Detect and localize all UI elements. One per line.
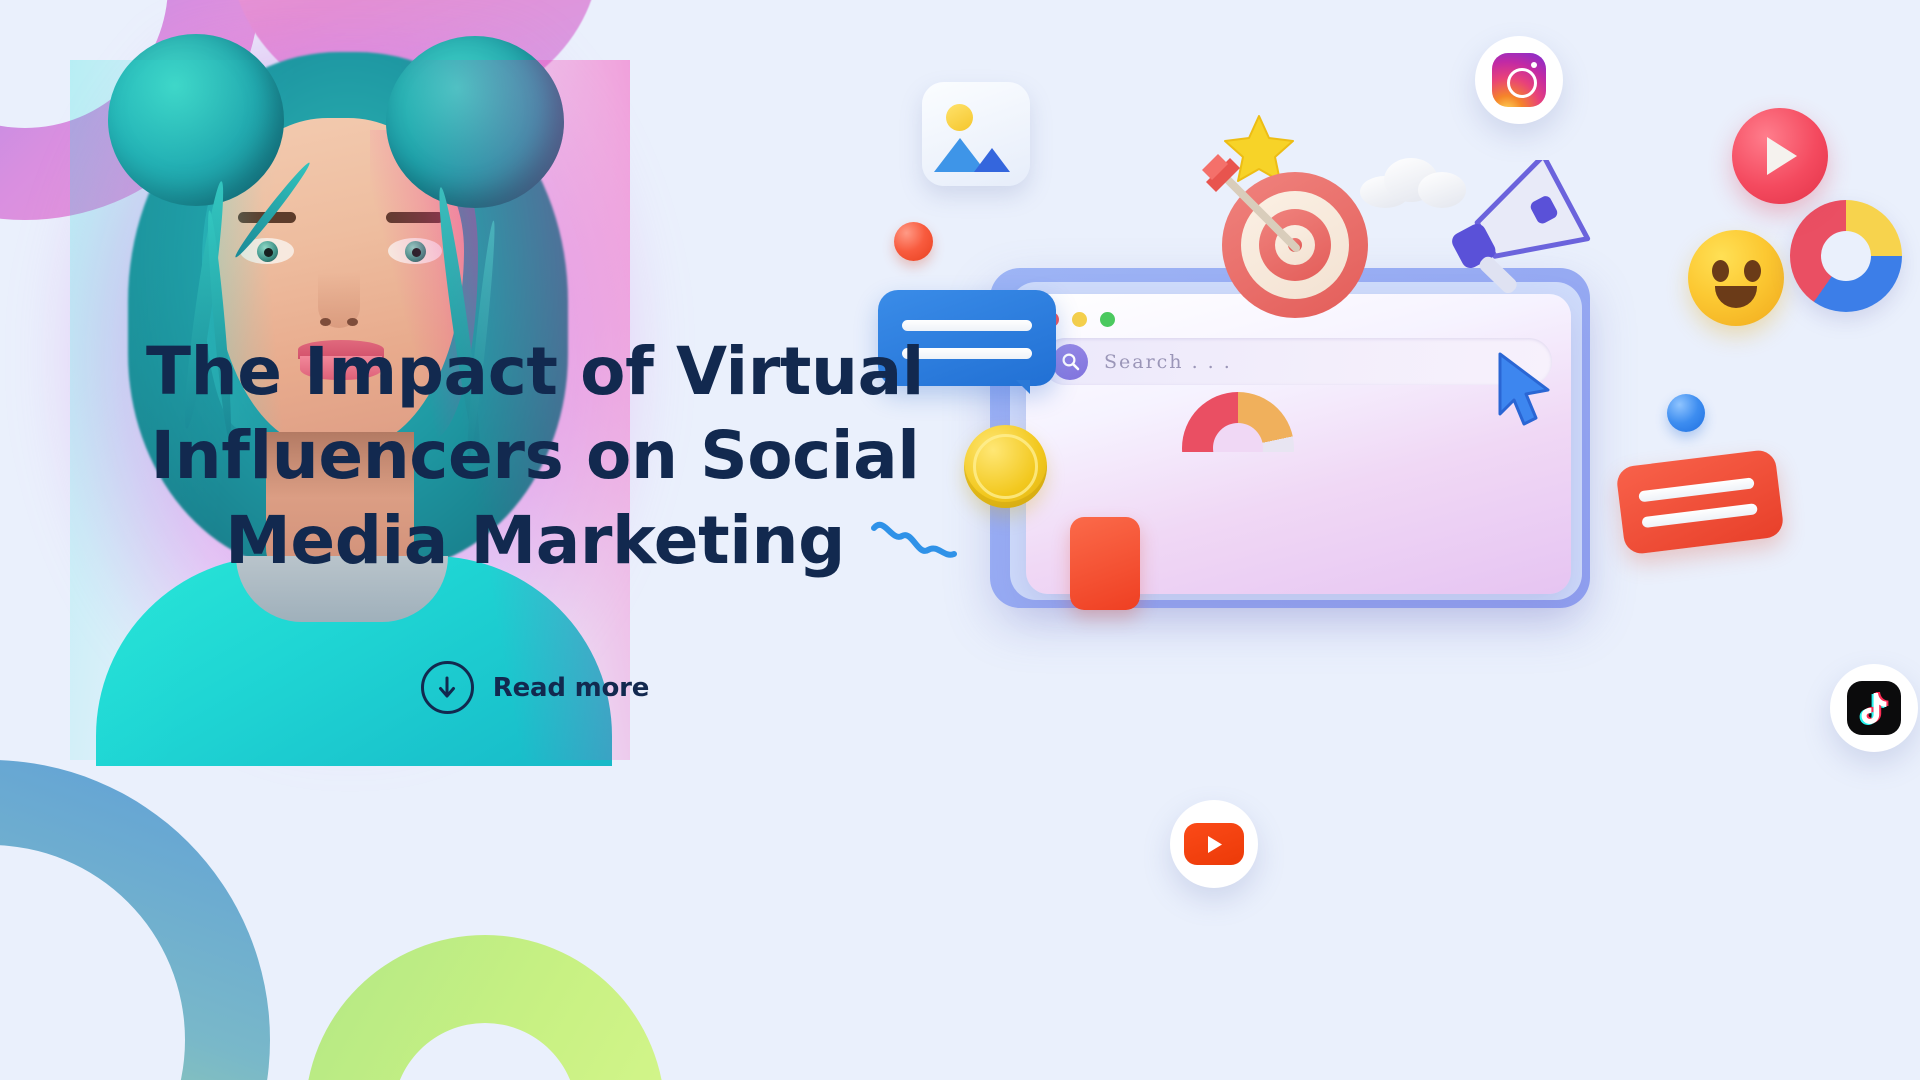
search-input[interactable]: Search . . . [1042,338,1552,385]
traffic-light-yellow [1072,312,1087,327]
megaphone-icon [1430,160,1610,310]
sphere-red-icon [894,222,933,261]
hero-stage: The Impact of Virtual Influencers on Soc… [0,0,1920,1080]
rect-red-icon [1070,517,1140,610]
decorative-arc-bottom-left [0,760,270,1080]
traffic-light-green [1100,312,1115,327]
donut-chart-behind-head-icon [1182,392,1294,452]
chat-bubble-red-icon [1615,449,1785,556]
donut-chart-icon [1790,200,1902,312]
smiley-emoji-icon [1688,230,1784,326]
magnifier-icon [1052,344,1088,380]
read-more-label: Read more [493,673,649,703]
search-placeholder-text: Search . . . [1104,351,1232,373]
coin-icon [964,425,1047,508]
read-more-button[interactable]: Read more [421,661,649,714]
instagram-icon[interactable] [1475,36,1563,124]
youtube-icon[interactable] [1170,800,1258,888]
hair-bun-left [108,34,284,206]
cursor-arrow-icon [1490,350,1560,428]
hero-text-column: The Impact of Virtual Influencers on Soc… [95,330,975,714]
sphere-blue-icon [1667,394,1705,432]
decorative-ring-bottom-green [305,935,665,1080]
image-placeholder-mountains-icon [930,128,1022,174]
arrow-down-circle-icon [421,661,474,714]
tiktok-icon[interactable] [1830,664,1918,752]
dart-arrow-icon [1200,152,1330,282]
hair-bun-right [386,36,564,208]
image-placeholder-sun-icon [946,104,973,131]
illustration-collage: Search . . . [870,0,1920,1080]
play-button-icon [1732,108,1828,204]
nose [318,272,360,328]
page-title: The Impact of Virtual Influencers on Soc… [95,330,975,583]
